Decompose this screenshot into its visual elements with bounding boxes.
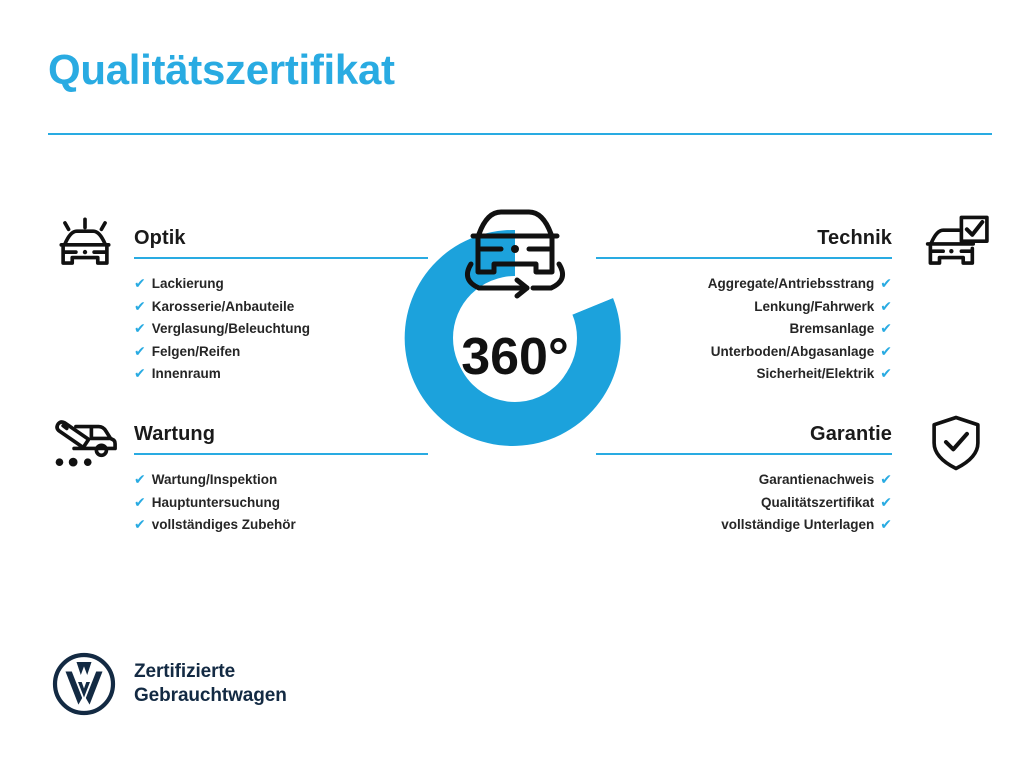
list-item-label: Lenkung/Fahrwerk xyxy=(754,296,874,319)
check-icon: ✔ xyxy=(134,276,146,290)
list-item-label: Qualitätszertifikat xyxy=(761,492,874,515)
list-item-label: Karosserie/Anbauteile xyxy=(152,296,295,319)
section-garantie: Garantie Garantienachweis ✔ Qualitätszer… xyxy=(596,424,992,537)
list-item-label: Unterboden/Abgasanlage xyxy=(711,341,875,364)
list-item-label: Garantienachweis xyxy=(759,469,875,492)
check-icon: ✔ xyxy=(880,321,892,335)
car-checkbox-icon xyxy=(918,212,992,274)
badge-360-gebrauchtwagen-check: 360° Gebrauchtwagen-Check xyxy=(375,198,655,498)
list-item-label: vollständiges Zubehör xyxy=(152,514,296,537)
footer-line-2: Gebrauchtwagen xyxy=(134,684,287,708)
check-icon: ✔ xyxy=(134,321,146,335)
check-icon: ✔ xyxy=(134,472,146,486)
check-icon: ✔ xyxy=(880,299,892,313)
certificate-page: Qualitätszertifikat Optik ✔ Lac xyxy=(0,0,1024,768)
list-item: vollständige Unterlagen ✔ xyxy=(596,514,892,537)
checklist-optik: ✔ Lackierung ✔ Karosserie/Anbauteile ✔ V… xyxy=(48,273,428,386)
list-item-label: Sicherheit/Elektrik xyxy=(756,363,874,386)
list-item-label: vollständige Unterlagen xyxy=(721,514,874,537)
check-icon: ✔ xyxy=(880,517,892,531)
page-title: Qualitätszertifikat xyxy=(48,48,395,92)
check-icon: ✔ xyxy=(134,366,146,380)
list-item-label: Aggregate/Antriebsstrang xyxy=(708,273,875,296)
section-technik: Technik Aggregate/Antriebsstrang ✔ Lenku… xyxy=(596,228,992,386)
footer-brand: Zertifizierte Gebrauchtwagen xyxy=(52,652,287,716)
check-icon: ✔ xyxy=(880,472,892,486)
footer-line-1: Zertifizierte xyxy=(134,660,287,684)
check-icon: ✔ xyxy=(134,344,146,358)
section-optik: Optik ✔ Lackierung ✔ Karosserie/Anbautei… xyxy=(48,228,428,386)
list-item-label: Innenraum xyxy=(152,363,221,386)
section-wartung: Wartung ✔ Wartung/Inspektion ✔ Hauptunte… xyxy=(48,424,428,537)
check-icon: ✔ xyxy=(880,366,892,380)
list-item-label: Hauptuntersuchung xyxy=(152,492,280,515)
check-icon: ✔ xyxy=(134,495,146,509)
check-icon: ✔ xyxy=(880,276,892,290)
list-item-label: Bremsanlage xyxy=(789,318,874,341)
checklist-wartung: ✔ Wartung/Inspektion ✔ Hauptuntersuchung… xyxy=(48,469,428,537)
list-item-label: Lackierung xyxy=(152,273,224,296)
list-item-label: Wartung/Inspektion xyxy=(152,469,278,492)
car-service-tool-icon xyxy=(48,412,122,474)
check-icon: ✔ xyxy=(134,299,146,313)
list-item-label: Felgen/Reifen xyxy=(152,341,241,364)
check-icon: ✔ xyxy=(880,344,892,358)
list-item-label: Verglasung/Beleuchtung xyxy=(152,318,310,341)
volkswagen-logo-icon xyxy=(52,652,116,716)
footer-brand-text: Zertifizierte Gebrauchtwagen xyxy=(134,660,287,709)
check-icon: ✔ xyxy=(134,517,146,531)
title-divider xyxy=(48,133,992,135)
badge-value: 360° xyxy=(461,328,569,386)
list-item: ✔ vollständiges Zubehör xyxy=(134,514,428,537)
car-shine-icon xyxy=(48,212,122,274)
check-icon: ✔ xyxy=(880,495,892,509)
shield-check-icon xyxy=(926,412,986,474)
